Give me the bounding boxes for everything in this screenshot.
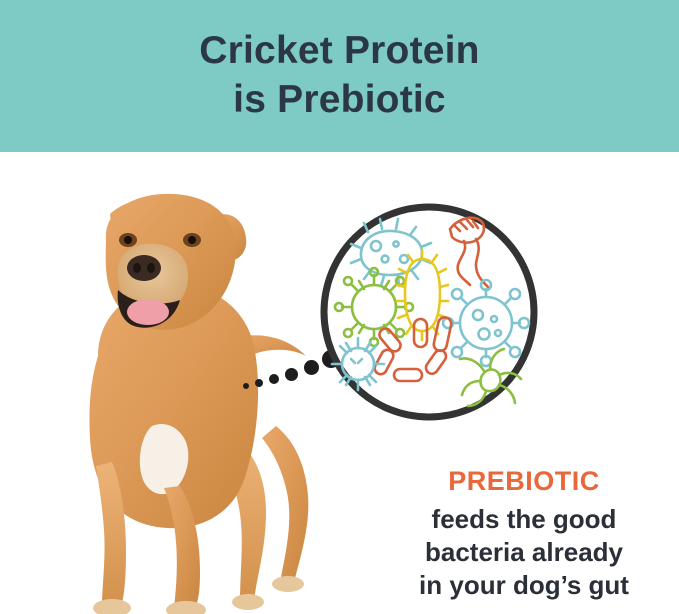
- dog-pupil-right: [188, 236, 196, 244]
- dog-hind-leg-near: [262, 426, 308, 582]
- dog-paw-right: [166, 601, 206, 614]
- page-title-line-1: Cricket Protein: [199, 27, 479, 76]
- dog-tongue: [127, 299, 169, 325]
- dog-pupil-left: [124, 236, 132, 244]
- thought-dot-1: [243, 383, 249, 389]
- caption-line-2: bacteria already: [379, 536, 669, 569]
- dog-nostril-right: [147, 263, 155, 273]
- caption-block: PREBIOTIC feeds the good bacteria alread…: [379, 467, 669, 602]
- microbe-illustration: [318, 201, 540, 423]
- dog-nose: [127, 255, 161, 281]
- infographic-poster: Cricket Protein is Prebiotic: [0, 0, 679, 614]
- caption-line-3: in your dog’s gut: [379, 569, 669, 602]
- blue-spiky-sphere: [332, 338, 384, 390]
- dog-illustration: [40, 190, 350, 614]
- dog-nostril-left: [133, 263, 141, 273]
- caption-headline: PREBIOTIC: [379, 467, 669, 497]
- header-banner: Cricket Protein is Prebiotic: [0, 0, 679, 152]
- dog-photo: [40, 190, 350, 614]
- dog-paw-hind-far: [232, 594, 264, 610]
- thought-dot-4: [285, 368, 298, 381]
- caption-line-1: feeds the good: [379, 503, 669, 536]
- microbe-thought-bubble: [318, 201, 540, 423]
- dog-paw-hind-near: [272, 576, 304, 592]
- thought-dot-3: [269, 374, 279, 384]
- thought-dot-2: [255, 379, 263, 387]
- page-title-line-2: is Prebiotic: [233, 76, 446, 125]
- thought-dot-5: [304, 360, 319, 375]
- dog-paw-left: [93, 599, 131, 614]
